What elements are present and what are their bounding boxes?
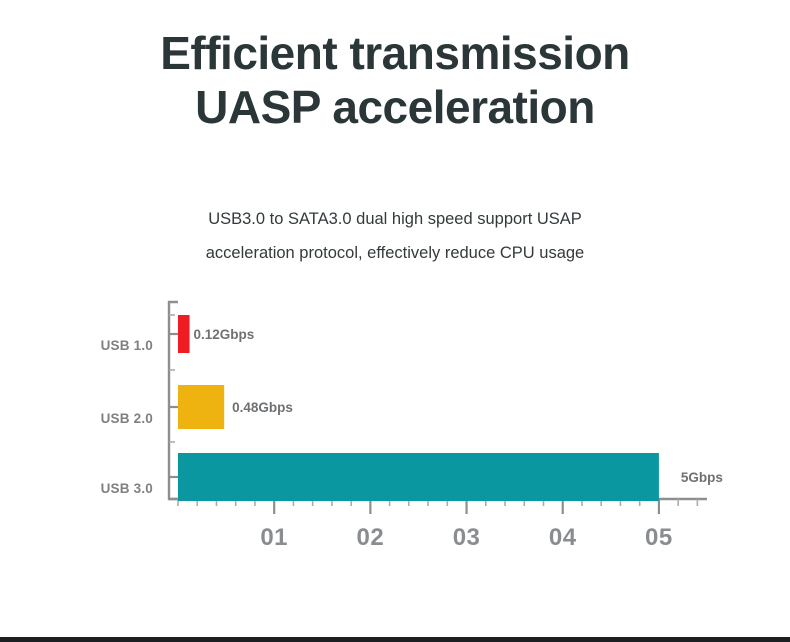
value-label-2: 0.48Gbps xyxy=(232,400,293,415)
page-title: Efficient transmission UASP acceleration xyxy=(0,26,790,134)
value-label-3: 5Gbps xyxy=(681,470,723,485)
category-label-3: USB 3.0 xyxy=(101,481,153,496)
title-line-1: Efficient transmission xyxy=(0,26,790,80)
value-label-1: 0.12Gbps xyxy=(194,327,255,342)
x-tick-label-02: 02 xyxy=(357,524,385,551)
bar-usb-3-0 xyxy=(178,453,659,501)
page-subtitle: USB3.0 to SATA3.0 dual high speed suppor… xyxy=(0,202,790,270)
subtitle-line-1: USB3.0 to SATA3.0 dual high speed suppor… xyxy=(0,202,790,236)
bottom-accent-strip xyxy=(0,637,790,642)
usb-speed-bar-chart: 0102030405USB 1.00.12GbpsUSB 2.00.48Gbps… xyxy=(0,292,790,560)
category-label-2: USB 2.0 xyxy=(101,411,153,426)
slide-canvas: Efficient transmission UASP acceleration… xyxy=(0,0,790,642)
subtitle-line-2: acceleration protocol, effectively reduc… xyxy=(0,236,790,270)
x-tick-label-04: 04 xyxy=(549,524,577,551)
title-line-2: UASP acceleration xyxy=(0,80,790,134)
y-axis-bracket xyxy=(169,302,178,499)
bar-usb-2-0 xyxy=(178,385,224,429)
category-label-1: USB 1.0 xyxy=(101,338,153,353)
bar-usb-1-0 xyxy=(178,315,190,353)
x-tick-label-01: 01 xyxy=(260,524,288,551)
chart-svg: 0102030405USB 1.00.12GbpsUSB 2.00.48Gbps… xyxy=(0,292,790,560)
x-tick-label-05: 05 xyxy=(645,524,673,551)
x-tick-label-03: 03 xyxy=(453,524,481,551)
